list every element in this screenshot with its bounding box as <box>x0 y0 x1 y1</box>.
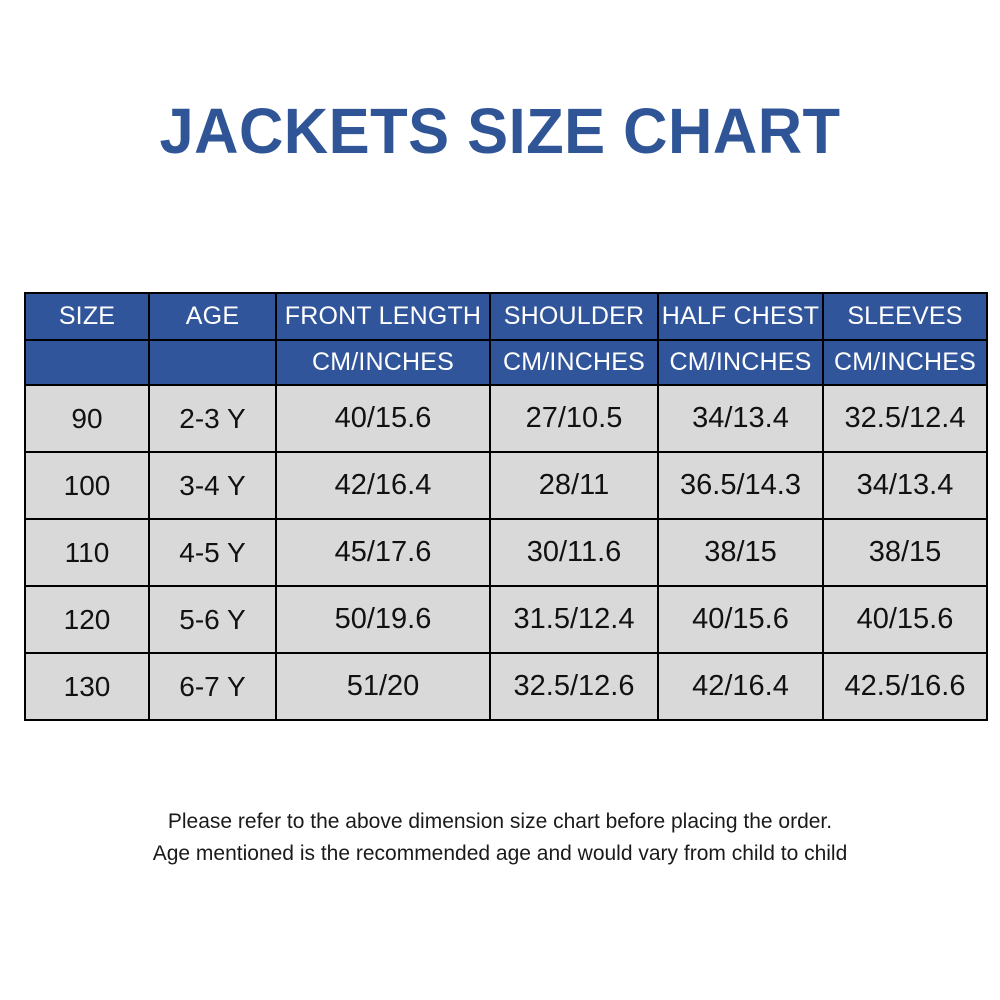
cell-age: 4-5 Y <box>149 519 276 586</box>
column-header-half-chest: HALF CHEST <box>658 293 823 340</box>
table-row: 90 2-3 Y 40/15.6 27/10.5 34/13.4 32.5/12… <box>25 385 987 452</box>
cell-half-chest: 36.5/14.3 <box>658 452 823 519</box>
cell-front-length: 42/16.4 <box>276 452 490 519</box>
table-row: 110 4-5 Y 45/17.6 30/11.6 38/15 38/15 <box>25 519 987 586</box>
column-units-front-length: CM/INCHES <box>276 340 490 385</box>
size-chart-table-wrapper: SIZE AGE FRONT LENGTH SHOULDER HALF CHES… <box>24 292 986 721</box>
cell-age: 3-4 Y <box>149 452 276 519</box>
cell-age: 6-7 Y <box>149 653 276 720</box>
column-header-age: AGE <box>149 293 276 340</box>
cell-age: 5-6 Y <box>149 586 276 653</box>
column-header-size: SIZE <box>25 293 149 340</box>
column-units-shoulder: CM/INCHES <box>490 340 658 385</box>
cell-sleeves: 32.5/12.4 <box>823 385 987 452</box>
cell-front-length: 50/19.6 <box>276 586 490 653</box>
table-row: 130 6-7 Y 51/20 32.5/12.6 42/16.4 42.5/1… <box>25 653 987 720</box>
column-units-age <box>149 340 276 385</box>
cell-front-length: 45/17.6 <box>276 519 490 586</box>
cell-sleeves: 40/15.6 <box>823 586 987 653</box>
column-units-half-chest: CM/INCHES <box>658 340 823 385</box>
cell-size: 110 <box>25 519 149 586</box>
cell-front-length: 51/20 <box>276 653 490 720</box>
column-header-shoulder: SHOULDER <box>490 293 658 340</box>
header-row-units: CM/INCHES CM/INCHES CM/INCHES CM/INCHES <box>25 340 987 385</box>
cell-sleeves: 34/13.4 <box>823 452 987 519</box>
header-row-titles: SIZE AGE FRONT LENGTH SHOULDER HALF CHES… <box>25 293 987 340</box>
cell-half-chest: 38/15 <box>658 519 823 586</box>
cell-size: 100 <box>25 452 149 519</box>
cell-shoulder: 27/10.5 <box>490 385 658 452</box>
cell-shoulder: 31.5/12.4 <box>490 586 658 653</box>
cell-age: 2-3 Y <box>149 385 276 452</box>
table-body: 90 2-3 Y 40/15.6 27/10.5 34/13.4 32.5/12… <box>25 385 987 720</box>
column-units-sleeves: CM/INCHES <box>823 340 987 385</box>
footer-note: Please refer to the above dimension size… <box>0 806 1000 870</box>
cell-half-chest: 34/13.4 <box>658 385 823 452</box>
cell-shoulder: 32.5/12.6 <box>490 653 658 720</box>
page-title: JACKETS SIZE CHART <box>20 96 980 166</box>
cell-sleeves: 42.5/16.6 <box>823 653 987 720</box>
cell-size: 130 <box>25 653 149 720</box>
cell-half-chest: 40/15.6 <box>658 586 823 653</box>
cell-half-chest: 42/16.4 <box>658 653 823 720</box>
table-row: 120 5-6 Y 50/19.6 31.5/12.4 40/15.6 40/1… <box>25 586 987 653</box>
column-units-size <box>25 340 149 385</box>
table-row: 100 3-4 Y 42/16.4 28/11 36.5/14.3 34/13.… <box>25 452 987 519</box>
cell-shoulder: 28/11 <box>490 452 658 519</box>
cell-size: 90 <box>25 385 149 452</box>
footer-note-line-2: Age mentioned is the recommended age and… <box>0 838 1000 870</box>
cell-front-length: 40/15.6 <box>276 385 490 452</box>
cell-shoulder: 30/11.6 <box>490 519 658 586</box>
column-header-front-length: FRONT LENGTH <box>276 293 490 340</box>
size-chart-table: SIZE AGE FRONT LENGTH SHOULDER HALF CHES… <box>24 292 988 721</box>
footer-note-line-1: Please refer to the above dimension size… <box>0 806 1000 838</box>
column-header-sleeves: SLEEVES <box>823 293 987 340</box>
cell-size: 120 <box>25 586 149 653</box>
size-chart-page: JACKETS SIZE CHART SIZE AGE FRONT LENGTH… <box>0 0 1000 1000</box>
table-header: SIZE AGE FRONT LENGTH SHOULDER HALF CHES… <box>25 293 987 385</box>
cell-sleeves: 38/15 <box>823 519 987 586</box>
